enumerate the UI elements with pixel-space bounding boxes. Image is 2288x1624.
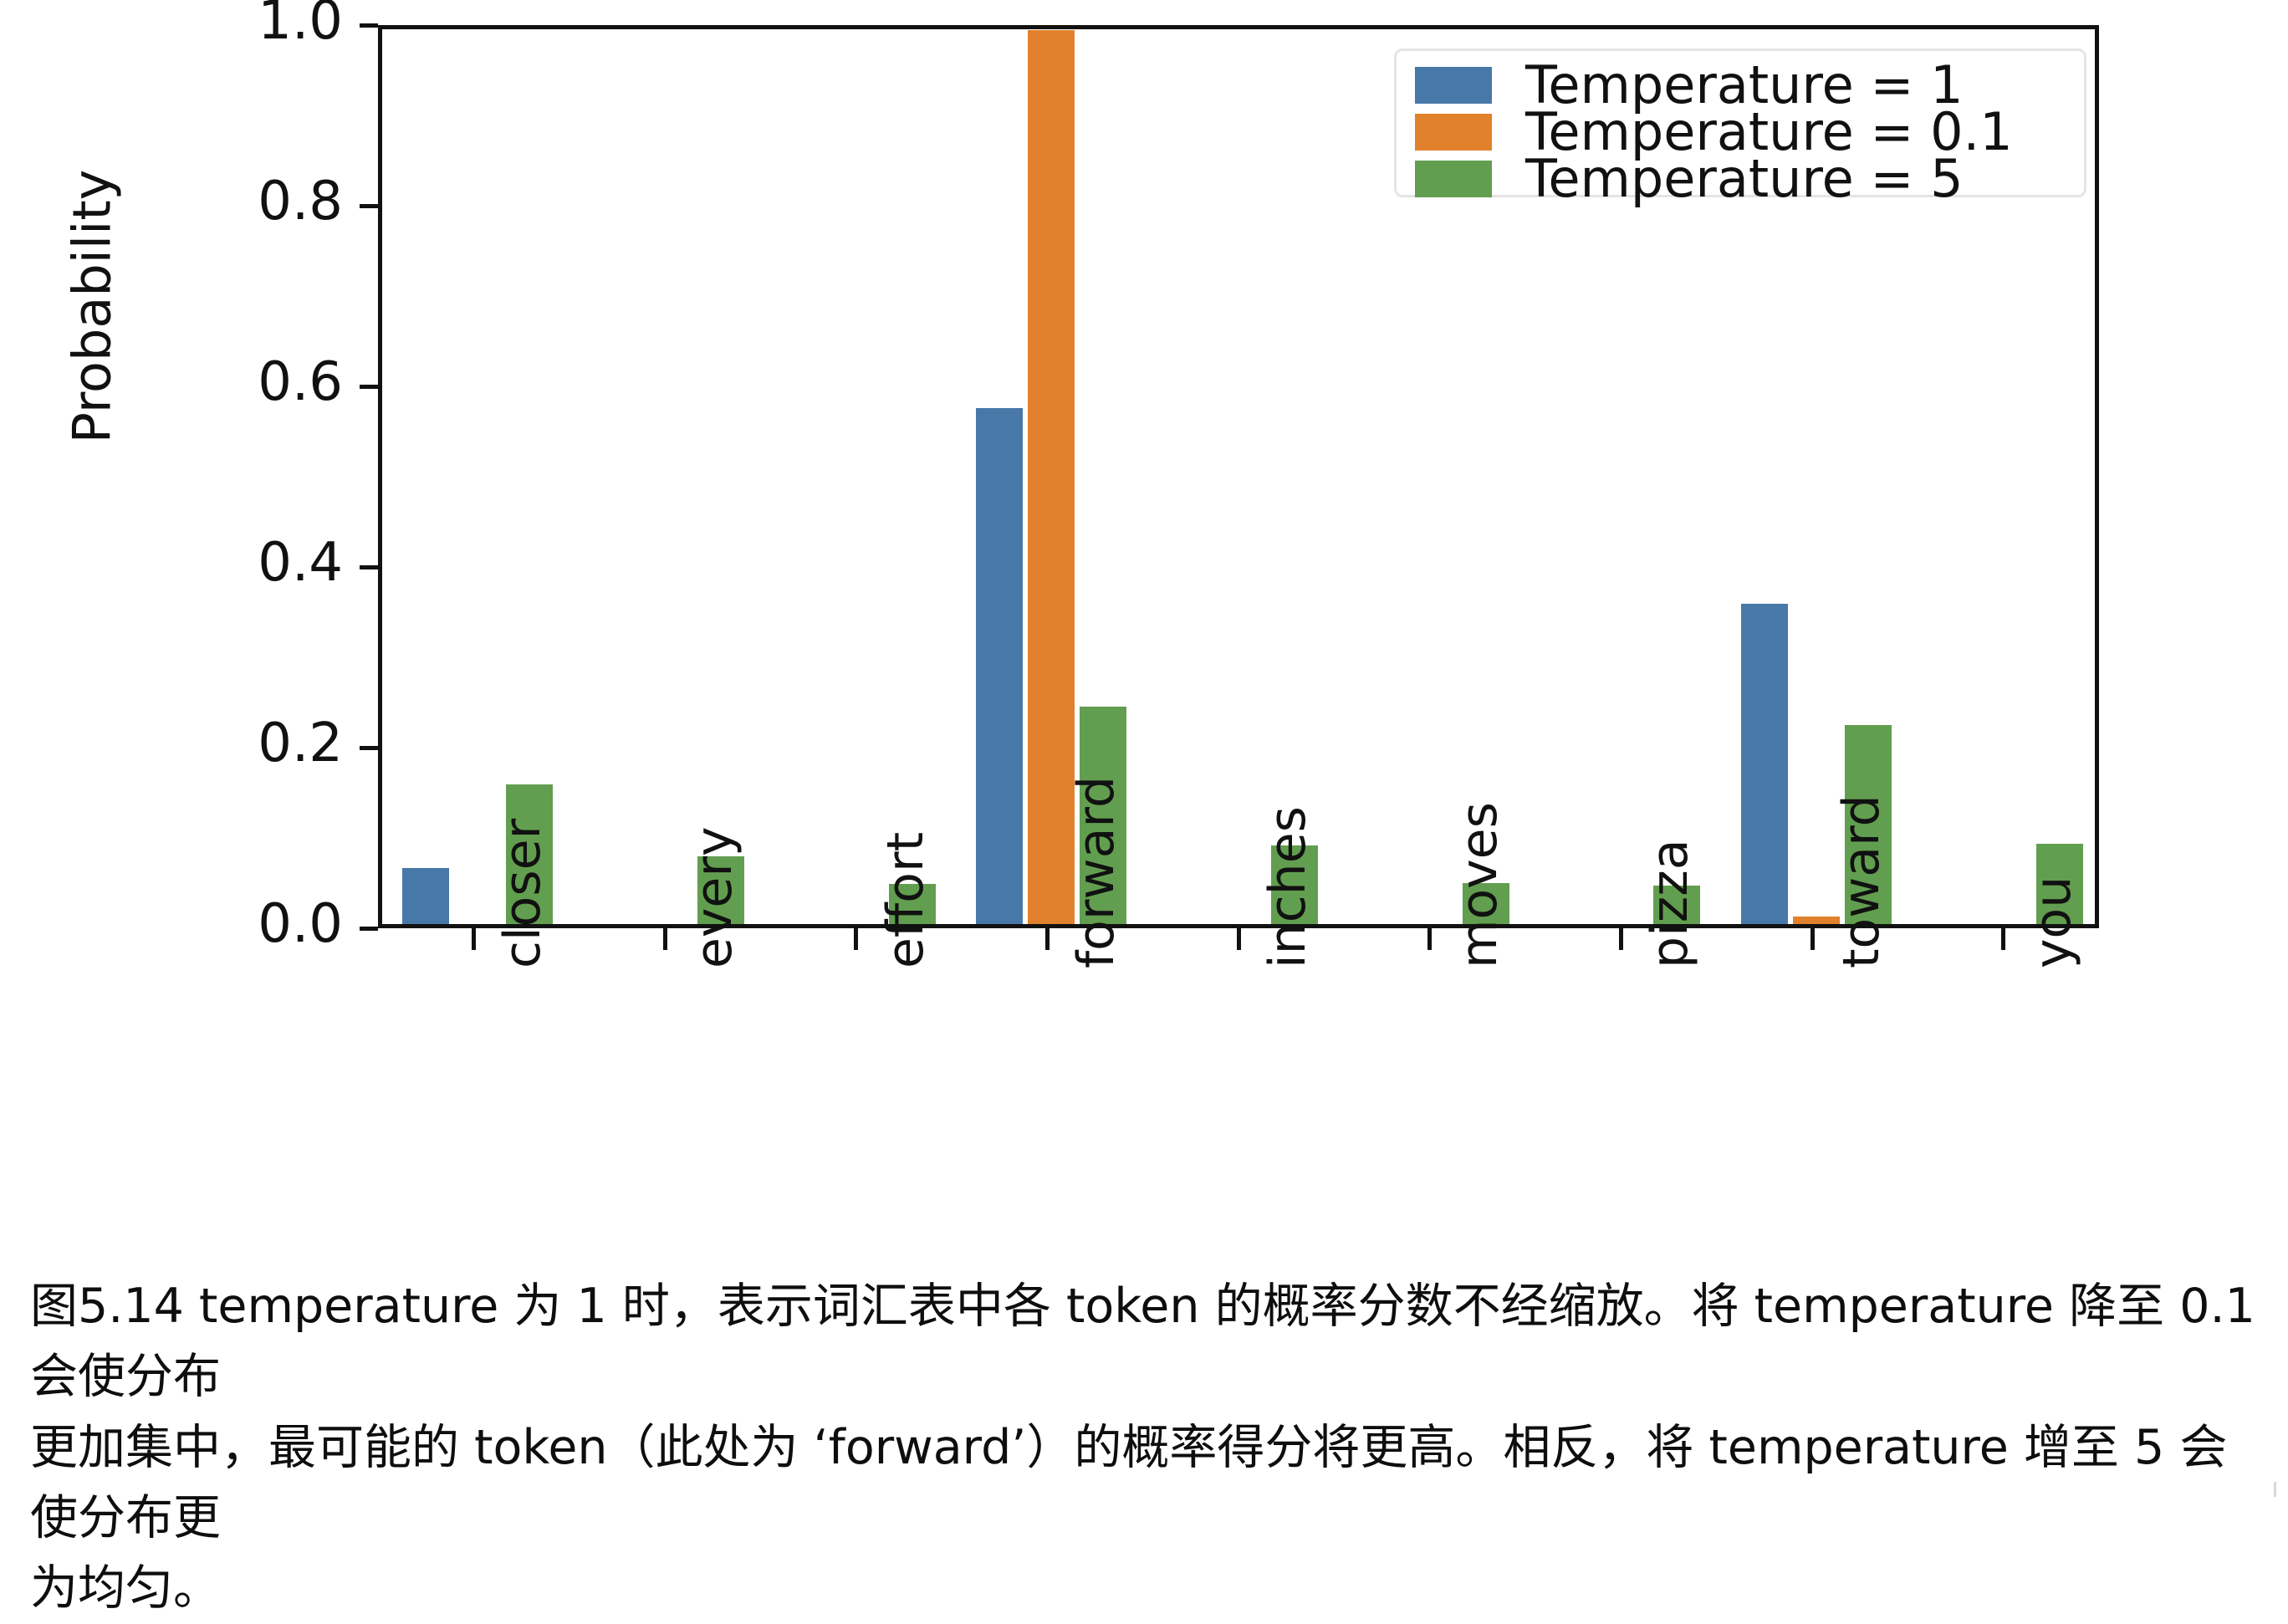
x-tick-mark (1045, 928, 1050, 950)
x-tick-label-effort: effort (876, 832, 935, 968)
x-tick-mark (663, 928, 667, 950)
y-tick-label: 0.0 (258, 893, 343, 955)
y-tick-mark (360, 565, 378, 569)
chart-legend: Temperature = 1Temperature = 0.1Temperat… (1394, 49, 2086, 197)
y-tick-label: 0.2 (258, 712, 343, 774)
x-tick-label-closer: closer (493, 819, 552, 968)
x-tick-label-pizza: pizza (1641, 839, 1699, 968)
legend-label: Temperature = 1 (1525, 64, 1964, 106)
y-tick-mark (360, 746, 378, 750)
bar-toward-series-1 (1741, 604, 1788, 924)
y-tick-label: 1.0 (258, 0, 343, 52)
bar-closer-series-1 (402, 868, 449, 924)
y-tick-label: 0.8 (258, 171, 343, 232)
x-tick-mark (1619, 928, 1623, 950)
legend-color-swatch (1415, 67, 1492, 104)
y-tick-mark (360, 927, 378, 931)
caption-line-2: 更加集中，最可能的 token（此处为 ‘forward’）的概率得分将更高。相… (30, 1412, 2271, 1554)
legend-label: Temperature = 5 (1525, 158, 1964, 200)
caption-line-3: 为均匀。 (30, 1553, 2271, 1623)
x-tick-label-inches: inches (1259, 806, 1317, 968)
y-tick-mark (360, 385, 378, 389)
x-tick-label-you: you (2024, 876, 2082, 968)
y-axis-label: Probability (62, 115, 123, 499)
page-edge-mark (2274, 1482, 2276, 1497)
x-tick-label-toward: toward (1832, 794, 1891, 968)
x-tick-mark (2001, 928, 2005, 950)
legend-item-1: Temperature = 1 (1415, 64, 2066, 106)
x-tick-mark (1427, 928, 1432, 950)
caption-line-1: 图5.14 temperature 为 1 时，表示词汇表中各 token 的概… (30, 1271, 2271, 1412)
x-tick-mark (1237, 928, 1241, 950)
figure-chart: Probability 0.00.20.40.60.81.0 closereve… (0, 0, 2288, 1238)
x-tick-mark (854, 928, 858, 950)
figure-caption: 图5.14 temperature 为 1 时，表示词汇表中各 token 的概… (30, 1271, 2271, 1624)
y-tick-label: 0.6 (258, 351, 343, 413)
y-tick-label: 0.4 (258, 532, 343, 594)
x-tick-mark (472, 928, 476, 950)
legend-label: Temperature = 0.1 (1525, 111, 2013, 153)
x-tick-label-moves: moves (1450, 802, 1509, 968)
legend-color-swatch (1415, 114, 1492, 151)
y-tick-mark (360, 204, 378, 208)
x-tick-mark (1810, 928, 1815, 950)
legend-item-2: Temperature = 0.1 (1415, 111, 2066, 153)
x-tick-label-forward: forward (1067, 776, 1126, 968)
legend-item-3: Temperature = 5 (1415, 158, 2066, 200)
legend-color-swatch (1415, 161, 1492, 197)
x-tick-label-every: every (685, 826, 743, 968)
y-tick-mark (360, 23, 378, 28)
bar-forward-series-1 (976, 408, 1023, 924)
